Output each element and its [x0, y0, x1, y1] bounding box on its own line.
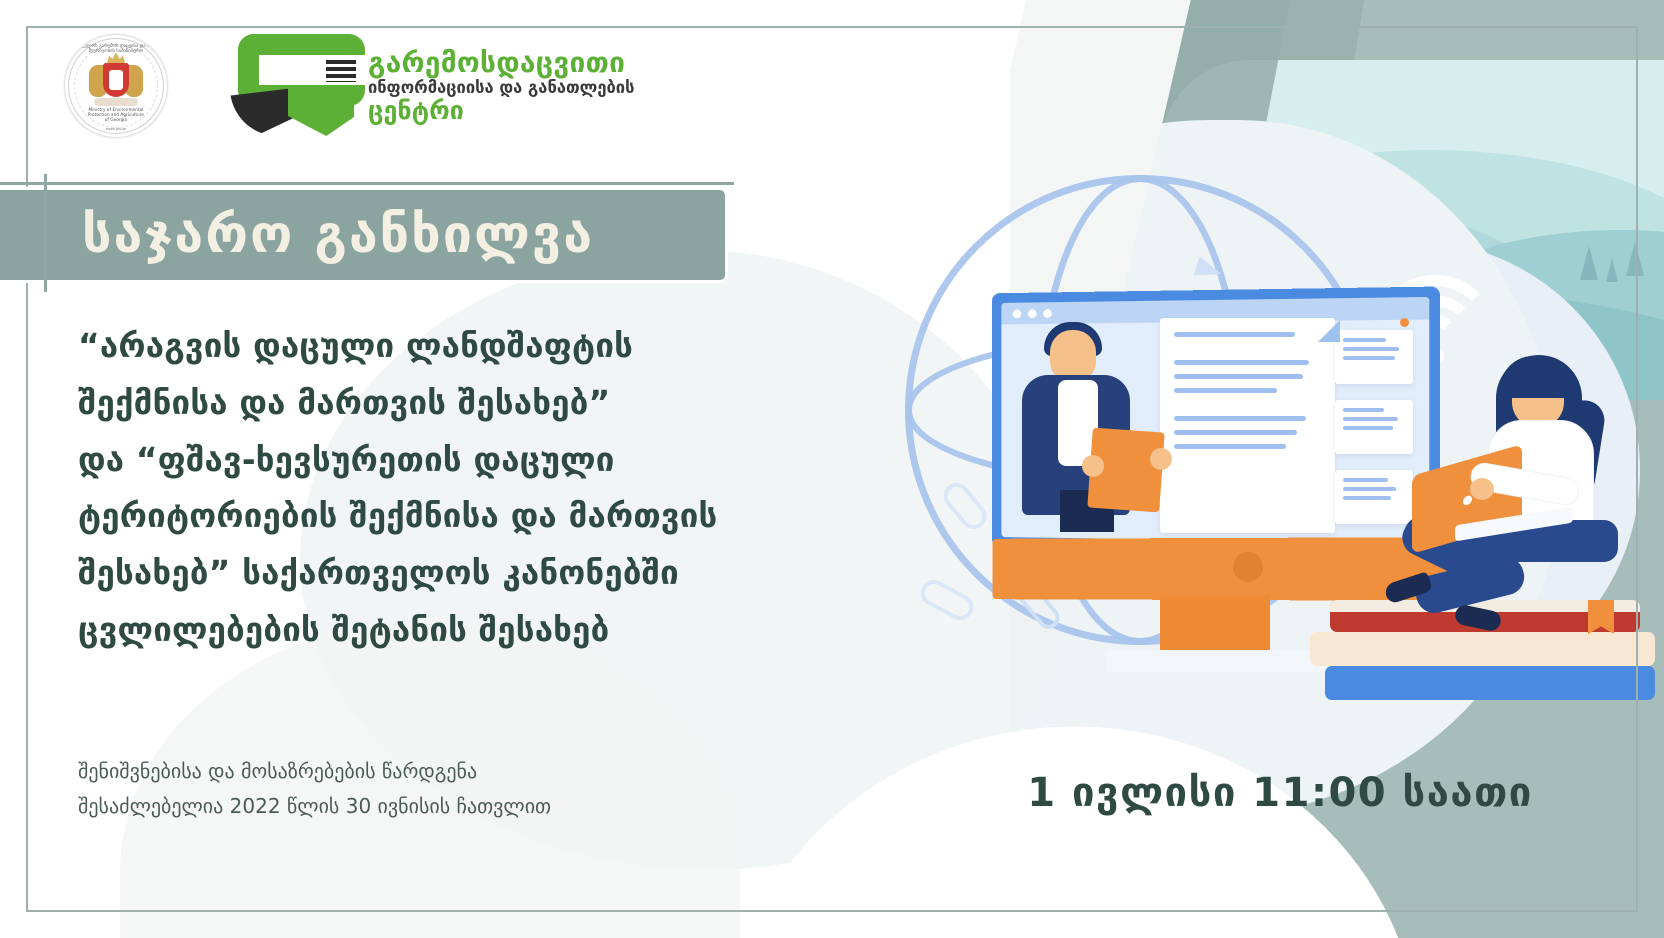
window-dot-icon — [1028, 309, 1037, 318]
page-title: საჯარო განხილვა — [0, 205, 594, 265]
banner-top-rule — [0, 182, 734, 185]
document-text-lines — [1335, 330, 1413, 373]
document-page-main — [1160, 318, 1335, 533]
seal-ribbon — [94, 98, 138, 106]
page-fold-corner — [1318, 320, 1340, 342]
poster-canvas: საქართველოს გარემოს დაცვისა და სოფლის მე… — [0, 0, 1664, 938]
presenter-hand-right — [1150, 448, 1172, 470]
headline-line: ცვლილებების შეტანის შესახებ — [78, 602, 718, 659]
seal-arc-text: საქართველოს გარემოს დაცვისა და სოფლის მე… — [65, 44, 167, 54]
window-dot-icon — [1013, 309, 1022, 318]
eiec-logo-text: გარემოსდაცვითი ინფორმაციისა და განათლები… — [368, 48, 634, 125]
eiec-text-line-1: გარემოსდაცვითი — [368, 48, 634, 78]
headline-line: და “ფშავ-ხევსურეთის დაცული — [78, 432, 718, 489]
seal-url-text: mepa.gov.ge — [65, 127, 167, 131]
headline-line: შესახებ” საქართველოს კანონებში — [78, 545, 718, 602]
eiec-logo-mark-icon — [230, 34, 354, 138]
woman-hand — [1470, 478, 1494, 500]
eiec-stripes-icon — [326, 60, 356, 82]
document-page-small-1 — [1335, 330, 1413, 384]
monitor-base — [1105, 650, 1345, 672]
eiec-book-left-page — [230, 88, 294, 136]
document-page-small-3 — [1335, 470, 1413, 524]
screen-status-dot-icon — [1400, 318, 1409, 327]
headline-line: “არაგვის დაცული ლანდშაფტის — [78, 318, 718, 375]
document-page-small-2 — [1335, 400, 1413, 454]
document-text-lines — [1160, 318, 1335, 472]
title-banner: საჯარო განხილვა — [0, 182, 734, 286]
eiec-logo: გარემოსდაცვითი ინფორმაციისა და განათლები… — [230, 34, 634, 138]
ministry-seal-logo: საქართველოს გარემოს დაცვისა და სოფლის მე… — [64, 34, 168, 138]
monitor-neck — [1160, 595, 1270, 655]
note-line: შენიშვნებისა და მოსაზრებების წარდგენა — [78, 754, 718, 789]
seal-latin-text-line-3: of Georgia — [65, 117, 167, 122]
monitor-knob-icon — [1233, 552, 1263, 582]
headline-line: შექმნისა და მართვის შესახებ” — [78, 375, 718, 432]
book-cream — [1310, 632, 1655, 666]
eiec-book-right-page — [288, 86, 354, 136]
presenter-hand-left — [1082, 455, 1104, 477]
document-text-lines — [1335, 400, 1413, 443]
banner-box: საჯარო განხილვა — [0, 187, 728, 283]
header-logos: საქართველოს გარემოს დაცვისა და სოფლის მე… — [64, 34, 634, 138]
fir-tree-icon — [1626, 242, 1644, 276]
banner-left-tick — [44, 174, 47, 292]
seal-shield-icon — [103, 63, 129, 97]
eiec-text-line-2: ინფორმაციისა და განათლების — [368, 79, 634, 96]
fir-tree-icon — [1580, 246, 1598, 280]
window-dot-icon — [1043, 309, 1052, 318]
eiec-text-line-3: ცენტრი — [368, 98, 634, 125]
submission-note: შენიშვნებისა და მოსაზრებების წარდგენა შე… — [78, 754, 718, 824]
headline-line: ტერიტორიების შექმნისა და მართვის — [78, 488, 718, 545]
event-datetime: 1 ივლისი 11:00 საათი — [1000, 770, 1560, 816]
headline-text: “არაგვის დაცული ლანდშაფტის შექმნისა და მ… — [78, 318, 718, 659]
document-text-lines — [1335, 470, 1413, 513]
note-line: შესაძლებელია 2022 წლის 30 ივნისის ჩათვლი… — [78, 789, 718, 824]
book-blue — [1325, 666, 1655, 700]
fir-tree-icon — [1606, 258, 1618, 282]
